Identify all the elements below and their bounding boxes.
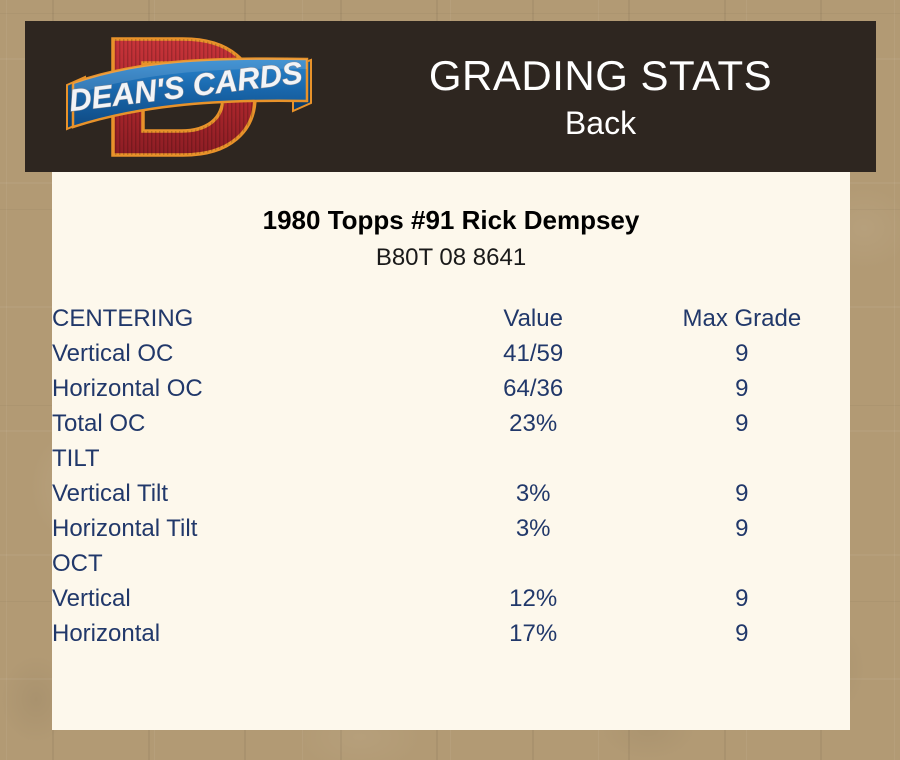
row-label: Vertical OC	[52, 336, 433, 371]
column-header-max-grade: Max Grade	[634, 301, 850, 336]
deans-cards-logo[interactable]: DEAN'S CARDS	[55, 27, 325, 167]
section-grade-spacer	[634, 546, 850, 581]
table-body: Vertical OC 41/59 9 Horizontal OC 64/36 …	[52, 336, 850, 651]
header-title-group: GRADING STATS Back	[325, 21, 876, 172]
table-header-row: CENTERING Value Max Grade	[52, 301, 850, 336]
row-max-grade: 9	[634, 371, 850, 406]
section-grade-spacer	[634, 441, 850, 476]
row-value: 17%	[433, 616, 634, 651]
card-serial-number: B80T 08 8641	[52, 242, 850, 274]
row-value: 64/36	[433, 371, 634, 406]
column-header-centering: CENTERING	[52, 301, 433, 336]
row-label: Horizontal	[52, 616, 433, 651]
grading-stats-table: CENTERING Value Max Grade Vertical OC 41…	[52, 301, 850, 651]
row-value: 41/59	[433, 336, 634, 371]
table-row: Horizontal Tilt 3% 9	[52, 511, 850, 546]
row-label: Vertical	[52, 581, 433, 616]
section-header-tilt: TILT	[52, 441, 850, 476]
row-max-grade: 9	[634, 616, 850, 651]
page-title: GRADING STATS	[429, 51, 772, 101]
row-max-grade: 9	[634, 581, 850, 616]
row-value: 23%	[433, 406, 634, 441]
section-header-oct: OCT	[52, 546, 850, 581]
row-max-grade: 9	[634, 476, 850, 511]
row-value: 3%	[433, 476, 634, 511]
table-row: Horizontal 17% 9	[52, 616, 850, 651]
table-row: Vertical 12% 9	[52, 581, 850, 616]
section-label: OCT	[52, 546, 433, 581]
row-max-grade: 9	[634, 406, 850, 441]
row-value: 3%	[433, 511, 634, 546]
row-max-grade: 9	[634, 336, 850, 371]
table-row: Total OC 23% 9	[52, 406, 850, 441]
table-row: Horizontal OC 64/36 9	[52, 371, 850, 406]
card-title: 1980 Topps #91 Rick Dempsey	[52, 204, 850, 236]
section-value-spacer	[433, 441, 634, 476]
logo-artwork: DEAN'S CARDS	[55, 27, 325, 167]
row-label: Horizontal Tilt	[52, 511, 433, 546]
column-header-value: Value	[433, 301, 634, 336]
section-label: TILT	[52, 441, 433, 476]
table-row: Vertical OC 41/59 9	[52, 336, 850, 371]
row-max-grade: 9	[634, 511, 850, 546]
header-bar: DEAN'S CARDS GRADING STATS Back	[25, 21, 876, 172]
row-label: Vertical Tilt	[52, 476, 433, 511]
card-title-block: 1980 Topps #91 Rick Dempsey B80T 08 8641	[52, 172, 850, 274]
row-label: Total OC	[52, 406, 433, 441]
content-panel: 1980 Topps #91 Rick Dempsey B80T 08 8641…	[52, 172, 850, 730]
section-value-spacer	[433, 546, 634, 581]
table-row: Vertical Tilt 3% 9	[52, 476, 850, 511]
row-value: 12%	[433, 581, 634, 616]
row-label: Horizontal OC	[52, 371, 433, 406]
page-subtitle: Back	[565, 103, 636, 143]
